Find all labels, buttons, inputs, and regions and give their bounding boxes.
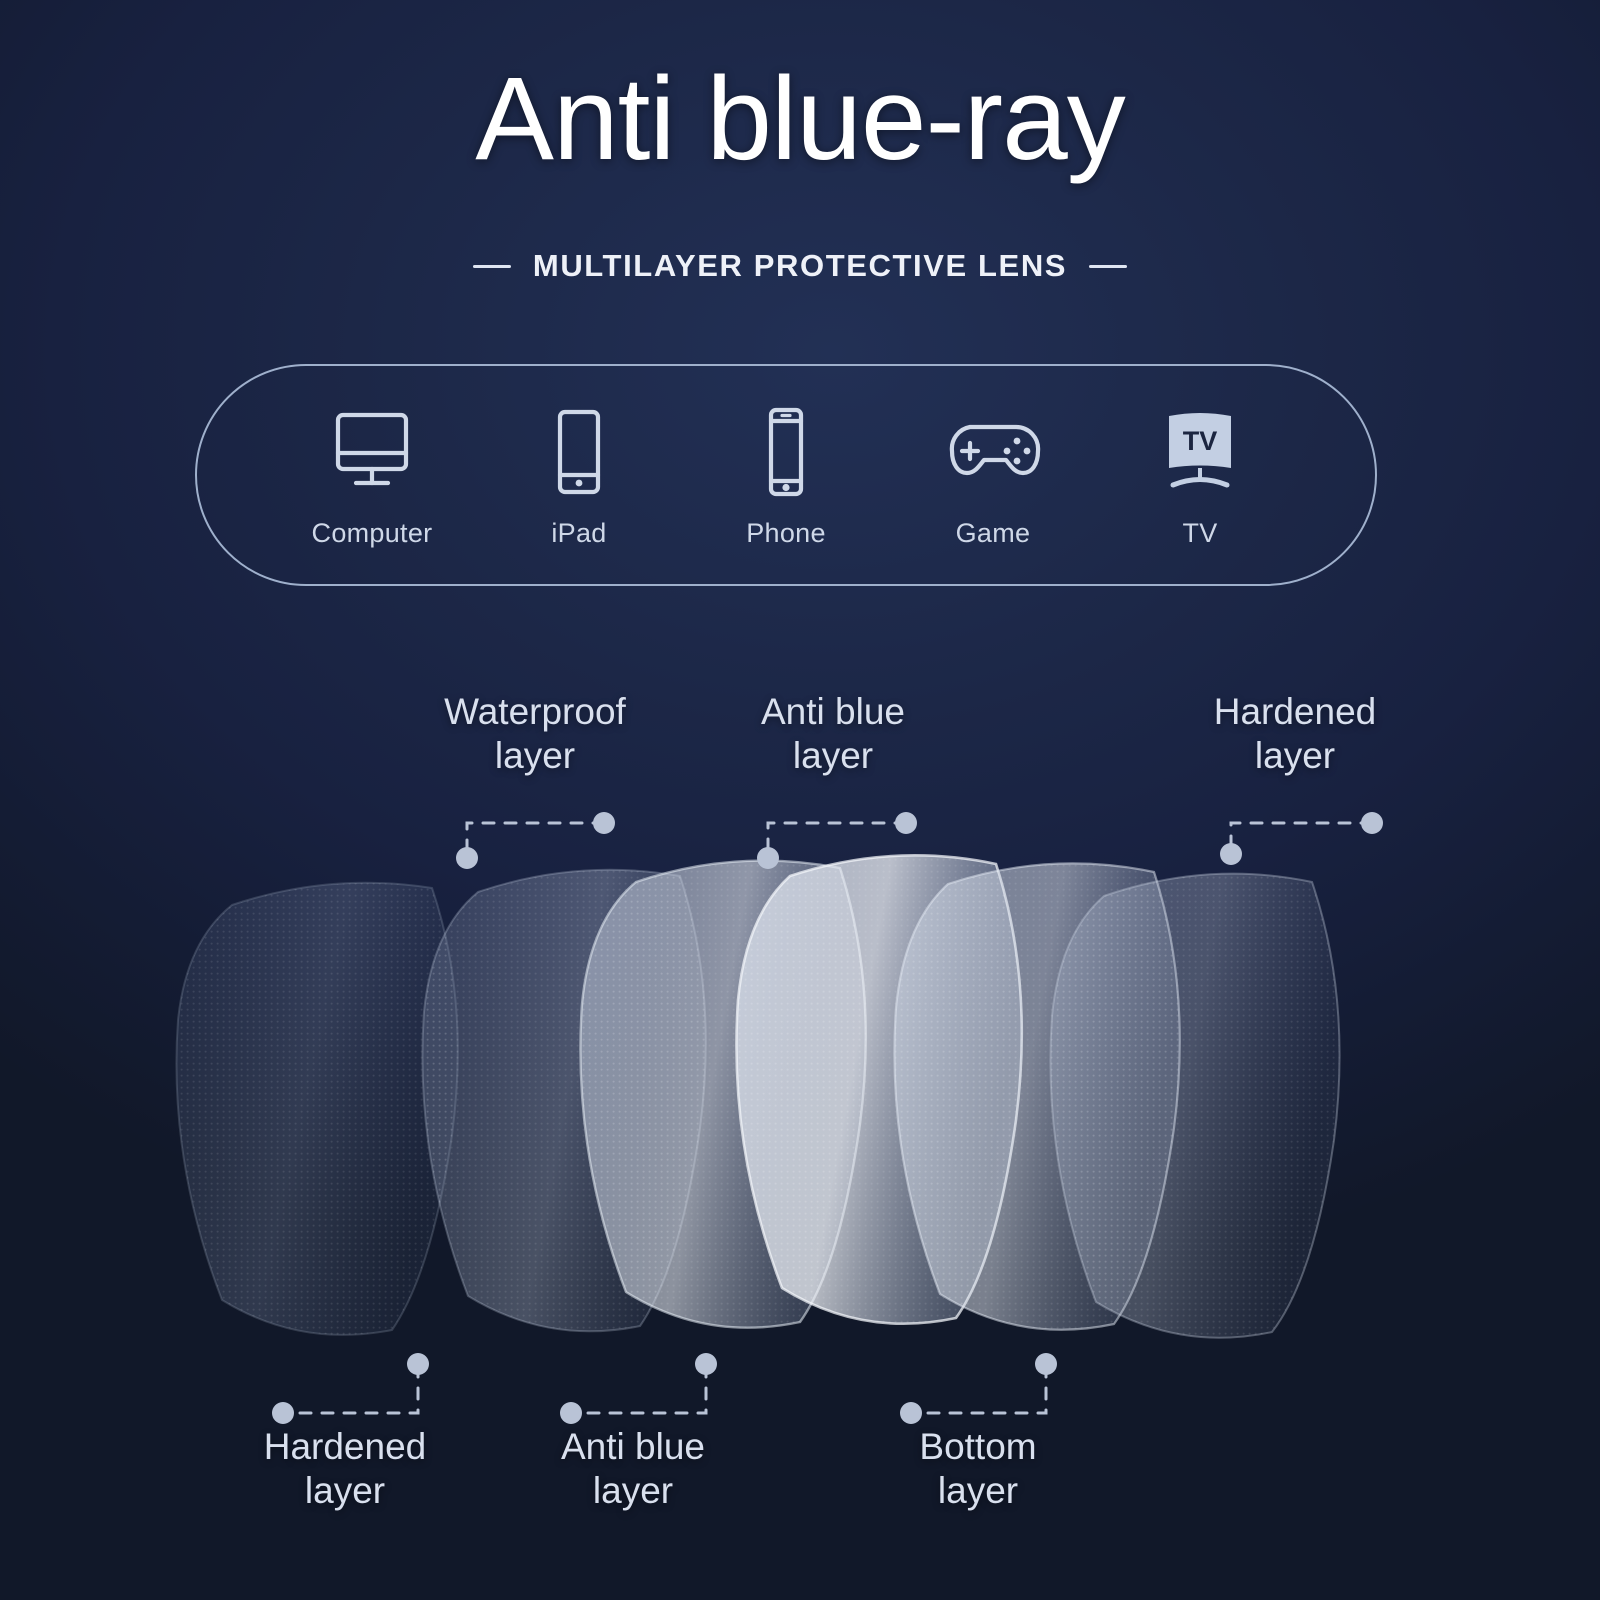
- callout-line1: Hardened: [195, 1425, 495, 1469]
- connector-top-hardened: [1231, 823, 1372, 852]
- callout-line2: layer: [195, 1469, 495, 1513]
- callout-line2: layer: [483, 1469, 783, 1513]
- callout-line1: Anti blue: [683, 690, 983, 734]
- infographic-canvas: Anti blue-ray MULTILAYER PROTECTIVE LENS…: [0, 0, 1600, 1600]
- callout-line1: Anti blue: [483, 1425, 783, 1469]
- callout-line2: layer: [683, 734, 983, 778]
- connector-top-anti-blue: [768, 823, 906, 856]
- callout-connectors: [0, 0, 1600, 1600]
- callout-bottom-anti-blue: Anti blue layer: [483, 1425, 783, 1512]
- callout-line2: layer: [828, 1469, 1128, 1513]
- connector-bottom-hardened: [292, 1366, 418, 1413]
- connector-top-waterproof: [467, 823, 604, 856]
- callout-line1: Hardened: [1145, 690, 1445, 734]
- callout-top-hardened: Hardened layer: [1145, 690, 1445, 777]
- callout-top-waterproof: Waterproof layer: [385, 690, 685, 777]
- callout-bottom-bottom: Bottom layer: [828, 1425, 1128, 1512]
- callout-line2: layer: [385, 734, 685, 778]
- callout-line1: Bottom: [828, 1425, 1128, 1469]
- callout-bottom-hardened: Hardened layer: [195, 1425, 495, 1512]
- callout-line1: Waterproof: [385, 690, 685, 734]
- connector-bottom-bottom: [920, 1366, 1046, 1413]
- connector-endpoints: [272, 812, 1383, 1424]
- connector-bottom-anti-blue: [580, 1366, 706, 1413]
- callout-line2: layer: [1145, 734, 1445, 778]
- callout-top-anti-blue: Anti blue layer: [683, 690, 983, 777]
